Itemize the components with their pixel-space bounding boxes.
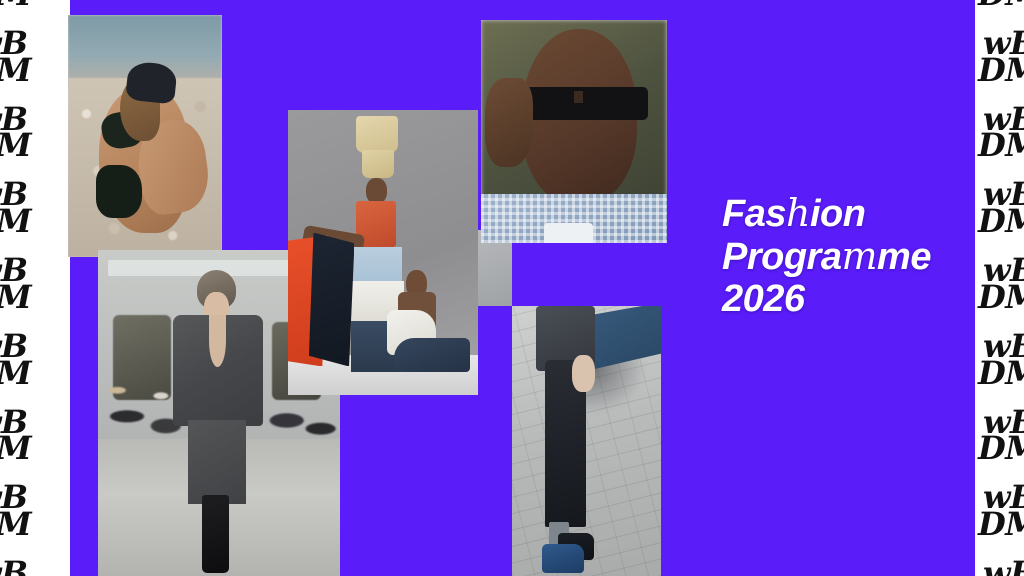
brand-logo-mark: wB DM bbox=[0, 409, 31, 463]
brand-logo-line-1: wB bbox=[983, 560, 1024, 576]
brand-logo-line-2: DM bbox=[978, 132, 1024, 159]
brand-logo-line-2: DM bbox=[0, 360, 31, 387]
brand-logo-mark: wB DM bbox=[0, 0, 31, 8]
editorial-standing-model-face bbox=[366, 178, 387, 204]
brand-logo-line-2: DM bbox=[978, 511, 1024, 538]
portrait-shirt-collar bbox=[544, 223, 592, 243]
portrait-photo-render bbox=[481, 20, 667, 243]
editorial-woven-headdress-lower bbox=[362, 150, 394, 179]
brand-logo-mark: wB DM bbox=[0, 30, 31, 84]
presentation-slide: wB DM wB DM wB DM wB DM wB DM wB DM bbox=[0, 0, 1024, 576]
brand-logo-line-2: DM bbox=[978, 57, 1024, 84]
collage-photo-street-style bbox=[512, 306, 661, 576]
brand-pattern-column-right: wB DM wB DM wB DM wB DM wB DM wB DM bbox=[975, 0, 1024, 576]
brand-logo-line-2: DM bbox=[0, 511, 31, 538]
brand-logo-line-2: DM bbox=[0, 0, 31, 8]
brand-logo-line-2: DM bbox=[978, 284, 1024, 311]
title-line-programme: Programme bbox=[722, 235, 962, 278]
editorial-woven-headdress-upper bbox=[356, 116, 398, 153]
brand-logo-line-2: DM bbox=[978, 360, 1024, 387]
editorial-navy-drape bbox=[309, 233, 355, 367]
brand-logo-mark: wB DM bbox=[0, 333, 31, 387]
brand-logo-mark: wB DM bbox=[983, 0, 1024, 8]
brand-logo-line-2: DM bbox=[0, 57, 31, 84]
brand-logo-mark: wB DM bbox=[983, 106, 1024, 160]
brand-logo-mark: wB DM bbox=[983, 409, 1024, 463]
street-model-shoe-front bbox=[542, 544, 584, 574]
brand-logo-line-2: DM bbox=[0, 208, 31, 235]
brand-logo-mark: wB DM bbox=[0, 560, 31, 576]
brand-logo-line-1: wB bbox=[0, 560, 31, 576]
portrait-model-hand bbox=[485, 78, 533, 167]
title-line-year: 2026 bbox=[722, 278, 962, 320]
brand-logo-line-2: DM bbox=[978, 435, 1024, 462]
brand-logo-mark: wB DM bbox=[983, 30, 1024, 84]
brand-logo-stack-right: wB DM wB DM wB DM wB DM wB DM wB DM bbox=[983, 0, 1024, 576]
editorial-seated-navy-cloth bbox=[394, 338, 470, 372]
brand-logo-stack-left: wB DM wB DM wB DM wB DM wB DM wB DM bbox=[0, 0, 31, 576]
street-photo-render bbox=[512, 306, 661, 576]
brand-logo-mark: wB DM bbox=[983, 257, 1024, 311]
brand-logo-mark: wB DM bbox=[983, 560, 1024, 576]
title-line-fashion: Fashion bbox=[722, 192, 962, 235]
portrait-sunglasses-bridge bbox=[574, 91, 583, 102]
brand-logo-mark: wB DM bbox=[0, 257, 31, 311]
brand-logo-mark: wB DM bbox=[983, 333, 1024, 387]
collage-photo-editorial-draped bbox=[288, 110, 478, 395]
brand-logo-line-2: DM bbox=[978, 208, 1024, 235]
brand-logo-line-2: DM bbox=[0, 435, 31, 462]
beach-swimsuit-bottom bbox=[96, 165, 142, 218]
beach-photo-render bbox=[68, 15, 222, 257]
collage-photo-beach-swimwear bbox=[68, 15, 222, 257]
brand-logo-line-2: DM bbox=[0, 132, 31, 159]
editorial-photo-render bbox=[288, 110, 478, 395]
brand-logo-mark: wB DM bbox=[983, 181, 1024, 235]
portrait-sunglasses bbox=[522, 87, 648, 120]
street-model-hand bbox=[572, 355, 596, 393]
slide-title: Fashion Programme 2026 bbox=[722, 192, 962, 320]
brand-logo-line-2: DM bbox=[978, 0, 1024, 8]
brand-pattern-column-left: wB DM wB DM wB DM wB DM wB DM wB DM bbox=[0, 0, 70, 576]
brand-logo-mark: wB DM bbox=[0, 106, 31, 160]
collage-photo-sunglasses-portrait bbox=[481, 20, 667, 243]
runway-model-skirt bbox=[188, 420, 246, 505]
brand-logo-line-2: DM bbox=[0, 284, 31, 311]
brand-logo-mark: wB DM bbox=[0, 181, 31, 235]
brand-logo-mark: wB DM bbox=[0, 484, 31, 538]
brand-logo-mark: wB DM bbox=[983, 484, 1024, 538]
runway-model-boots bbox=[202, 495, 229, 573]
